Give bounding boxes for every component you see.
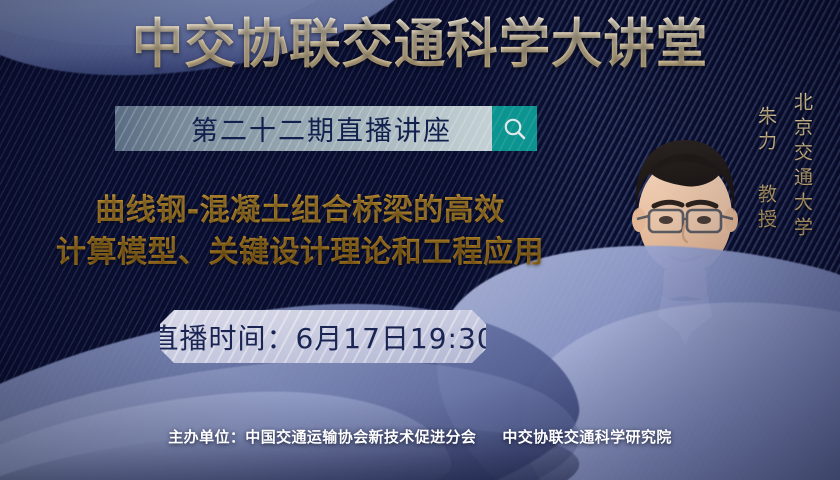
lecture-title: 曲线钢-混凝土组合桥梁的高效 计算模型、关键设计理论和工程应用	[0, 190, 600, 274]
lecture-title-line-2: 计算模型、关键设计理论和工程应用	[0, 232, 600, 274]
footer-org-1: 中国交通运输协会新技术促进分会	[245, 428, 476, 446]
search-button[interactable]	[492, 106, 537, 151]
broadcast-time-label: 直播时间：6月17日19:30	[150, 317, 495, 357]
lecture-poster: 中交协联交通科学大讲堂 第二十二期直播讲座 曲线钢-混凝土组合桥梁的高效 计算模…	[0, 0, 840, 480]
speaker-name: 朱力 教授	[753, 106, 780, 234]
footer-organizers: 主办单位：中国交通运输协会新技术促进分会中交协联交通科学研究院	[0, 426, 840, 447]
footer-org-2: 中交协联交通科学研究院	[502, 428, 671, 446]
footer-prefix: 主办单位：	[168, 428, 245, 446]
episode-banner: 第二十二期直播讲座	[115, 106, 492, 151]
page-title: 中交协联交通科学大讲堂	[13, 14, 828, 76]
search-icon	[502, 116, 528, 142]
speaker-affiliation: 北京交通大学	[789, 92, 816, 242]
lecture-title-line-1: 曲线钢-混凝土组合桥梁的高效	[0, 190, 600, 232]
broadcast-time-badge: 直播时间：6月17日19:30	[160, 310, 486, 363]
episode-label: 第二十二期直播讲座	[155, 109, 452, 148]
